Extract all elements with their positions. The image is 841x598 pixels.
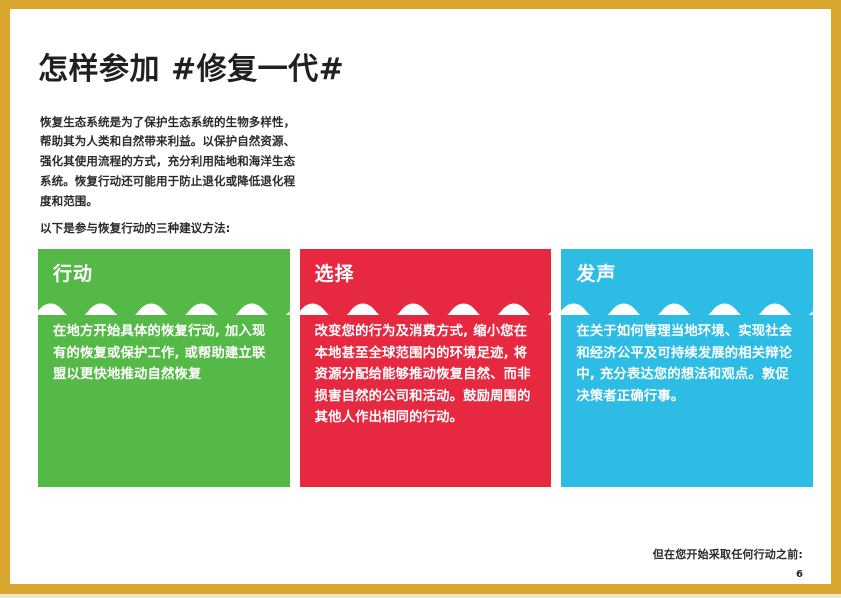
page-frame: 怎样参加 #修复一代# 恢复生态系统是为了保护生态系统的生物多样性，帮助其为人类… [0,0,841,598]
card-action-body: 在地方开始具体的恢复行动, 加入现有的恢复或保护工作, 或帮助建立联盟以更快地推… [38,307,290,386]
frame-bottom-edge [0,594,841,598]
wave-divider-icon [561,299,813,315]
card-action: 行动 在地方开始具体的恢复行动, 加入现有的恢复或保护工作, 或帮助建立联盟以更… [38,249,290,487]
wave-divider-icon [38,299,290,315]
intro-lede: 以下是参与恢复行动的三种建议方法: [40,219,360,237]
frame-bottom-bar [0,584,841,594]
wave-divider-icon [300,299,552,315]
card-action-title: 行动 [53,265,290,284]
page-title: 怎样参加 #修复一代# [38,53,344,88]
page-sheet: 怎样参加 #修复一代# 恢复生态系统是为了保护生态系统的生物多样性，帮助其为人类… [10,9,831,598]
card-voice: 发声 在关于如何管理当地环境、实现社会和经济公平及可持续发展的相关辩论中, 充分… [561,249,813,487]
card-voice-body: 在关于如何管理当地环境、实现社会和经济公平及可持续发展的相关辩论中, 充分表达您… [561,307,813,407]
card-choice: 选择 改变您的行为及消费方式, 缩小您在本地甚至全球范围内的环境足迹, 将资源分… [300,249,552,487]
card-voice-title: 发声 [576,265,813,284]
card-choice-title: 选择 [315,265,552,284]
footer-note: 但在您开始采取任何行动之前: [653,546,803,562]
page-number: 6 [796,569,803,580]
intro-paragraph: 恢复生态系统是为了保护生态系统的生物多样性，帮助其为人类和自然带来利益。以保护自… [40,113,298,212]
suggestion-cards: 行动 在地方开始具体的恢复行动, 加入现有的恢复或保护工作, 或帮助建立联盟以更… [38,249,813,487]
card-choice-body: 改变您的行为及消费方式, 缩小您在本地甚至全球范围内的环境足迹, 将资源分配给能… [300,307,552,429]
